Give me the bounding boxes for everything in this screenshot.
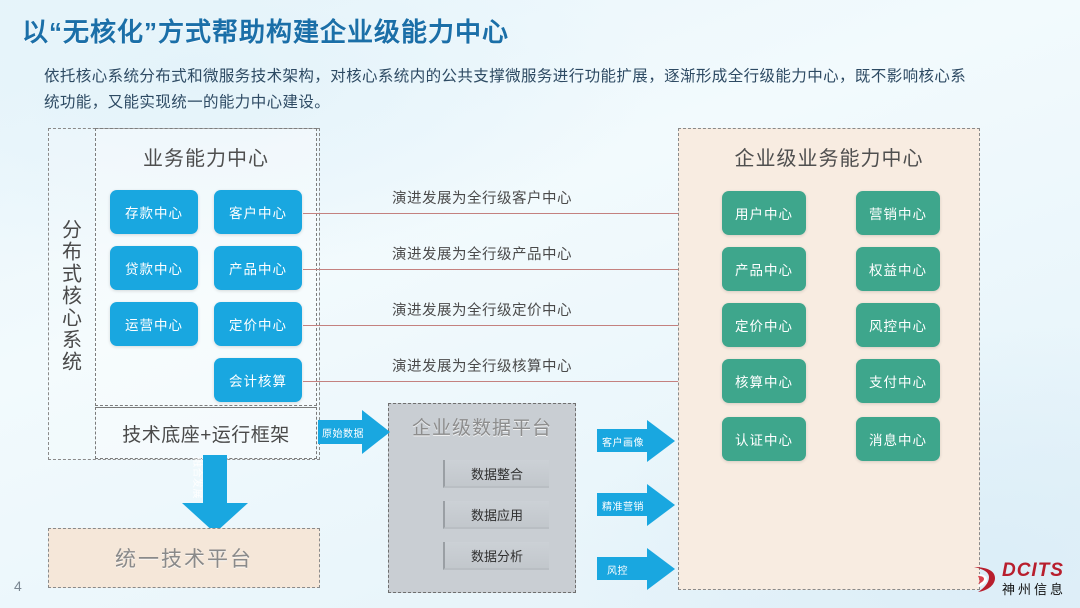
chip-marketing-center[interactable]: 营销中心: [856, 191, 940, 235]
chip-loan-center[interactable]: 贷款中心: [110, 246, 198, 290]
arrow-risk-control-head: [647, 548, 675, 590]
chip-auth-center[interactable]: 认证中心: [722, 417, 806, 461]
arrow-risk-control: 风控: [597, 548, 677, 590]
arrow-fusion-development: 融合发展: [182, 455, 248, 533]
arrow-customer-profile: 客户画像: [597, 420, 677, 462]
evolution-label-pricing: 演进发展为全行级定价中心: [392, 299, 572, 320]
logo-cn-text: 神州信息: [1002, 583, 1066, 596]
evolution-label-accounting: 演进发展为全行级核算中心: [392, 355, 572, 376]
arrow-fusion-shaft: [203, 455, 227, 505]
chip-payment-center[interactable]: 支付中心: [856, 359, 940, 403]
arrow-risk-control-label: 风控: [607, 562, 628, 577]
business-capability-center-title: 业务能力中心: [95, 142, 317, 171]
chip-ent-product-center[interactable]: 产品中心: [722, 247, 806, 291]
data-platform-item-integration[interactable]: 数据整合: [443, 460, 549, 488]
arrow-customer-profile-head: [647, 420, 675, 462]
chip-operation-center[interactable]: 运营中心: [110, 302, 198, 346]
chip-message-center[interactable]: 消息中心: [856, 417, 940, 461]
arrow-fusion-label: 融合发展: [191, 457, 206, 505]
tech-base-box: 技术底座+运行框架: [95, 407, 317, 459]
data-platform-item-analysis[interactable]: 数据分析: [443, 542, 549, 570]
chip-ent-accounting-center[interactable]: 核算中心: [722, 359, 806, 403]
page-number: 4: [14, 578, 22, 594]
arrow-raw-data: 原始数据: [318, 410, 390, 454]
enterprise-data-platform-title: 企业级数据平台: [388, 413, 576, 440]
page-title: 以“无核化”方式帮助构建企业级能力中心: [22, 12, 509, 49]
chip-user-center[interactable]: 用户中心: [722, 191, 806, 235]
evolution-line-pricing: [303, 325, 719, 326]
arrow-customer-profile-label: 客户画像: [602, 434, 644, 449]
page-subtitle: 依托核心系统分布式和微服务技术架构，对核心系统内的公共支撑微服务进行功能扩展，逐…: [44, 64, 974, 115]
evolution-line-accounting: [303, 381, 719, 382]
evolution-line-customer: [303, 213, 719, 214]
evolution-line-product: [303, 269, 719, 270]
chip-pricing-center[interactable]: 定价中心: [214, 302, 302, 346]
chip-accounting[interactable]: 会计核算: [214, 358, 302, 402]
company-logo: DCITS 神州信息: [971, 561, 1066, 596]
chip-risk-control-center[interactable]: 风控中心: [856, 303, 940, 347]
logo-text-block: DCITS 神州信息: [1002, 561, 1066, 596]
arrow-raw-data-label: 原始数据: [322, 425, 364, 440]
arrow-precision-marketing-label: 精准营销: [602, 498, 644, 513]
chip-ent-pricing-center[interactable]: 定价中心: [722, 303, 806, 347]
evolution-label-product: 演进发展为全行级产品中心: [392, 243, 572, 264]
distributed-core-system-label: 分布式核心系统: [52, 178, 86, 414]
data-platform-item-application[interactable]: 数据应用: [443, 501, 549, 529]
enterprise-capability-center-title: 企业级业务能力中心: [678, 142, 980, 171]
dcits-mark-icon: [971, 564, 997, 594]
logo-en-text: DCITS: [1002, 561, 1066, 580]
unified-technology-platform: 统一技术平台: [48, 528, 320, 588]
arrow-precision-marketing-head: [647, 484, 675, 526]
arrow-precision-marketing: 精准营销: [597, 484, 677, 526]
chip-customer-center[interactable]: 客户中心: [214, 190, 302, 234]
chip-rights-center[interactable]: 权益中心: [856, 247, 940, 291]
chip-product-center[interactable]: 产品中心: [214, 246, 302, 290]
chip-deposit-center[interactable]: 存款中心: [110, 190, 198, 234]
arrow-raw-data-head: [362, 410, 390, 454]
evolution-label-customer: 演进发展为全行级客户中心: [392, 187, 572, 208]
